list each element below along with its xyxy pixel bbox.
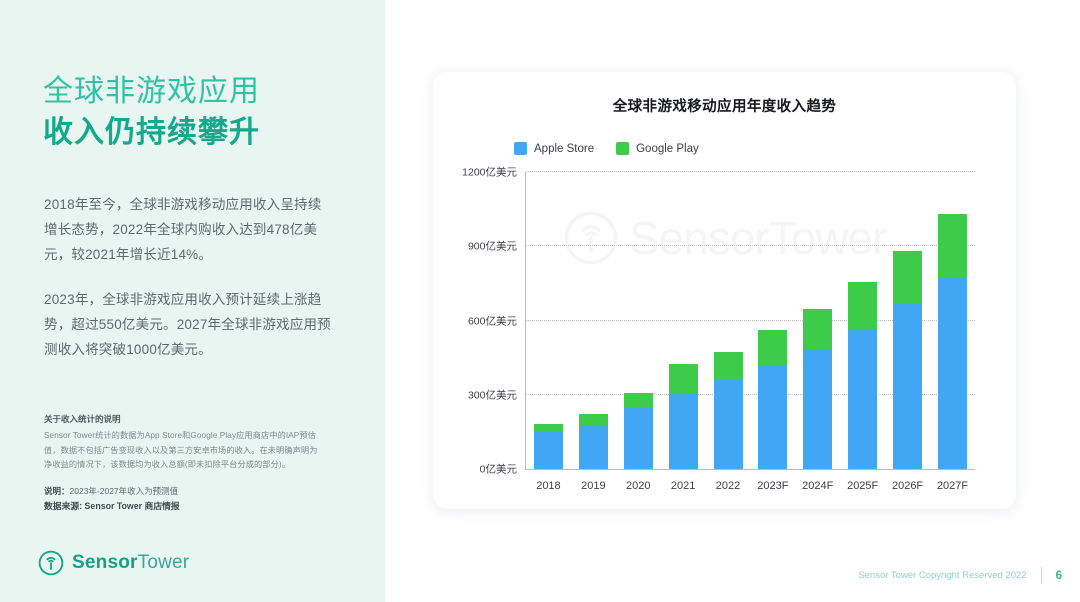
y-axis-tick-label: 900亿美元 xyxy=(468,239,526,254)
sensor-tower-logo-icon xyxy=(38,550,64,576)
bar-segment-apple-store[interactable] xyxy=(669,393,698,469)
x-axis-tick-label: 2023F xyxy=(757,480,788,492)
bar-column[interactable]: 2021 xyxy=(669,172,698,469)
legend-label: Apple Store xyxy=(534,143,594,155)
bar-segment-google-play[interactable] xyxy=(893,251,922,304)
bar-segment-apple-store[interactable] xyxy=(938,277,967,469)
legend-item-google-play[interactable]: Google Play xyxy=(616,142,699,155)
bar-segment-apple-store[interactable] xyxy=(803,349,832,469)
bar-column[interactable]: 2026F xyxy=(893,172,922,469)
legend-label: Google Play xyxy=(636,143,699,155)
x-axis-tick-label: 2025F xyxy=(847,480,878,492)
plot-wrapper: 0亿美元300亿美元600亿美元900亿美元1200亿美元 2018201920… xyxy=(453,160,996,490)
legend-swatch-icon xyxy=(616,142,629,155)
bar-segment-apple-store[interactable] xyxy=(758,365,787,469)
body-paragraph-2: 2023年，全球非游戏应用收入预计延续上涨趋势，超过550亿美元。2027年全球… xyxy=(44,287,334,362)
headline-block: 全球非游戏应用 收入仍持续攀升 xyxy=(43,72,363,154)
bar-segment-apple-store[interactable] xyxy=(534,432,563,469)
bar-segment-google-play[interactable] xyxy=(938,214,967,278)
bar-column[interactable]: 2018 xyxy=(534,172,563,469)
bar-column[interactable]: 2024F xyxy=(803,172,832,469)
footnote-note: 说明：2023年-2027年收入为预测值 xyxy=(44,484,322,499)
footnote-title: 关于收入统计的说明 xyxy=(44,412,322,427)
footnote-body: Sensor Tower统计的数据为App Store和Google Play应… xyxy=(44,429,322,473)
bar-column[interactable]: 2027F xyxy=(938,172,967,469)
logo-bold-text: Sensor xyxy=(72,552,138,573)
x-axis-tick-label: 2022 xyxy=(716,480,740,492)
bar-column[interactable]: 2023F xyxy=(758,172,787,469)
plot-area: 0亿美元300亿美元600亿美元900亿美元1200亿美元 2018201920… xyxy=(525,172,975,470)
footnote-note-value: 2023年-2027年收入为预测值 xyxy=(70,486,179,496)
bar-segment-google-play[interactable] xyxy=(624,393,653,408)
legend-item-apple-store[interactable]: Apple Store xyxy=(514,142,594,155)
sensor-tower-logo: SensorTower xyxy=(38,550,189,576)
bar-column[interactable]: 2019 xyxy=(579,172,608,469)
chart-legend: Apple StoreGoogle Play xyxy=(514,142,699,155)
right-chart-panel: 全球非游戏移动应用年度收入趋势 Apple StoreGoogle Play S… xyxy=(385,0,1080,602)
bar-column[interactable]: 2025F xyxy=(848,172,877,469)
x-axis-tick-label: 2019 xyxy=(581,480,605,492)
bar-segment-apple-store[interactable] xyxy=(579,425,608,469)
x-axis-tick-label: 2018 xyxy=(536,480,560,492)
footnote-note-label: 说明： xyxy=(44,486,70,496)
bar-segment-google-play[interactable] xyxy=(579,414,608,425)
x-axis-tick-label: 2021 xyxy=(671,480,695,492)
bar-segment-google-play[interactable] xyxy=(534,424,563,432)
bar-segment-google-play[interactable] xyxy=(758,330,787,365)
sensor-tower-logo-text: SensorTower xyxy=(72,552,189,574)
slide-root: 全球非游戏应用 收入仍持续攀升 2018年至今，全球非游戏移动应用收入呈持续增长… xyxy=(0,0,1080,602)
logo-light-text: Tower xyxy=(138,552,190,573)
bar-segment-google-play[interactable] xyxy=(669,364,698,393)
footer-page-number: 6 xyxy=(1056,570,1062,582)
footer-divider xyxy=(1041,567,1042,584)
y-axis-tick-label: 0亿美元 xyxy=(480,462,526,477)
footer-copyright: Sensor Tower Copyright Reserved 2022 xyxy=(858,570,1026,581)
bar-segment-google-play[interactable] xyxy=(714,352,743,380)
bar-segment-apple-store[interactable] xyxy=(893,304,922,469)
legend-swatch-icon xyxy=(514,142,527,155)
bar-series-group: 201820192020202120222023F2024F2025F2026F… xyxy=(526,172,975,469)
y-axis-tick-label: 300亿美元 xyxy=(468,387,526,402)
headline-line-1: 全球非游戏应用 xyxy=(43,72,363,112)
x-axis-tick-label: 2024F xyxy=(802,480,833,492)
left-text-panel: 全球非游戏应用 收入仍持续攀升 2018年至今，全球非游戏移动应用收入呈持续增长… xyxy=(0,0,385,602)
y-axis-tick-label: 600亿美元 xyxy=(468,313,526,328)
x-axis-tick-label: 2020 xyxy=(626,480,650,492)
x-axis-tick-label: 2026F xyxy=(892,480,923,492)
footnote-block: 关于收入统计的说明 Sensor Tower统计的数据为App Store和Go… xyxy=(44,412,322,514)
chart-title: 全球非游戏移动应用年度收入趋势 xyxy=(433,95,1016,116)
body-paragraph-1: 2018年至今，全球非游戏移动应用收入呈持续增长态势，2022年全球内购收入达到… xyxy=(44,192,334,267)
x-axis-tick-label: 2027F xyxy=(937,480,968,492)
y-axis-tick-label: 1200亿美元 xyxy=(462,165,526,180)
bar-segment-apple-store[interactable] xyxy=(624,408,653,469)
body-copy-block: 2018年至今，全球非游戏移动应用收入呈持续增长态势，2022年全球内购收入达到… xyxy=(44,192,334,382)
bar-segment-google-play[interactable] xyxy=(848,282,877,329)
bar-column[interactable]: 2020 xyxy=(624,172,653,469)
bar-column[interactable]: 2022 xyxy=(714,172,743,469)
bar-segment-apple-store[interactable] xyxy=(714,380,743,469)
headline-line-2: 收入仍持续攀升 xyxy=(43,112,363,154)
footnote-source: 数据来源: Sensor Tower 商店情报 xyxy=(44,499,322,514)
chart-card: 全球非游戏移动应用年度收入趋势 Apple StoreGoogle Play S… xyxy=(433,72,1016,509)
slide-footer: Sensor Tower Copyright Reserved 2022 6 xyxy=(858,567,1062,584)
bar-segment-google-play[interactable] xyxy=(803,309,832,349)
bar-segment-apple-store[interactable] xyxy=(848,329,877,469)
